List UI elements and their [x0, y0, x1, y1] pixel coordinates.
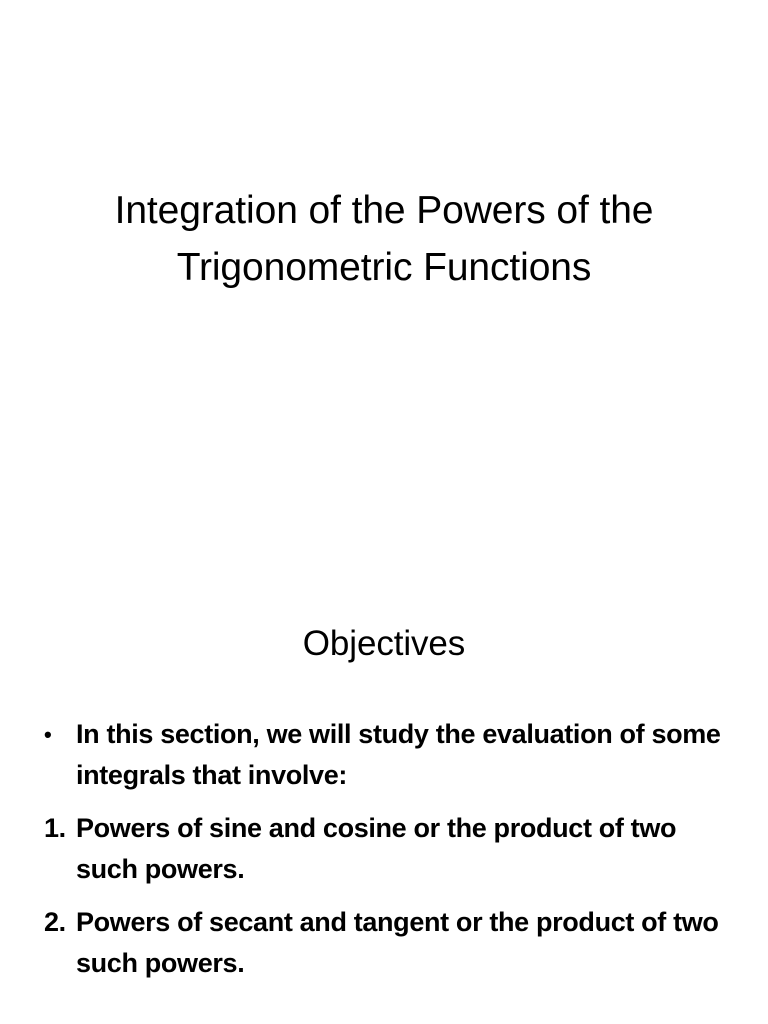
list-item: 2. Powers of secant and tangent or the p… [44, 902, 724, 984]
number-marker-2: 2. [44, 902, 74, 943]
page-title: Integration of the Powers of the Trigono… [40, 182, 728, 296]
list-item: 1. Powers of sine and cosine or the prod… [44, 808, 724, 890]
list-item-text: In this section, we will study the evalu… [76, 714, 724, 796]
page-title-line-2: Trigonometric Functions [40, 239, 728, 296]
page-title-line-1: Integration of the Powers of the [40, 182, 728, 239]
objectives-list: • In this section, we will study the eva… [44, 714, 724, 984]
slide-canvas: Integration of the Powers of the Trigono… [0, 0, 768, 1024]
list-item: • In this section, we will study the eva… [44, 714, 724, 796]
number-marker-1: 1. [44, 808, 74, 849]
bullet-marker-icon: • [44, 714, 74, 755]
section-heading-objectives: Objectives [40, 622, 728, 666]
list-item-text: Powers of secant and tangent or the prod… [76, 902, 724, 984]
list-item-text: Powers of sine and cosine or the product… [76, 808, 724, 890]
objectives-heading-block: Objectives [40, 622, 728, 666]
slide-title-block: Integration of the Powers of the Trigono… [40, 182, 728, 296]
